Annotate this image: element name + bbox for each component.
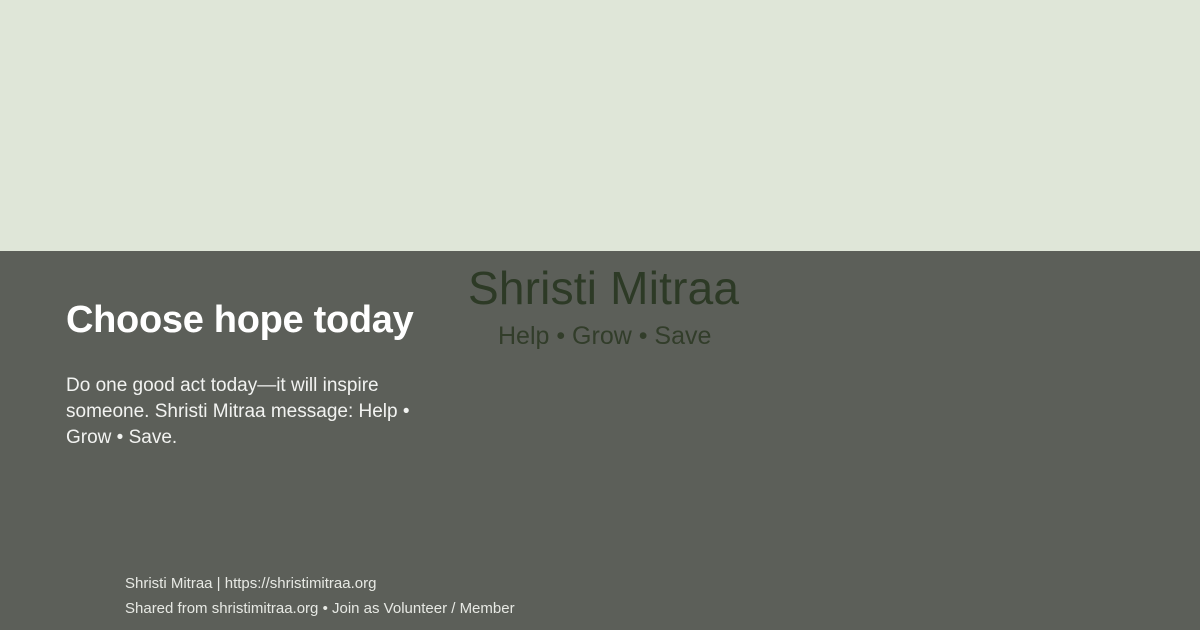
brand-tagline: Help • Grow • Save xyxy=(498,321,988,351)
hero-image-band xyxy=(0,0,1200,251)
footer: Shristi Mitraa | https://shristimitraa.o… xyxy=(125,571,825,621)
social-share-card: Shristi Mitraa Help • Grow • Save Choose… xyxy=(0,0,1200,630)
brand-name: Shristi Mitraa xyxy=(468,262,988,315)
description-text: Do one good act today—it will inspire so… xyxy=(66,373,458,451)
brand-block: Shristi Mitraa Help • Grow • Save xyxy=(468,262,988,351)
footer-share-line: Shared from shristimitraa.org • Join as … xyxy=(125,596,825,621)
headline: Choose hope today xyxy=(66,299,486,343)
footer-site-line: Shristi Mitraa | https://shristimitraa.o… xyxy=(125,571,825,596)
